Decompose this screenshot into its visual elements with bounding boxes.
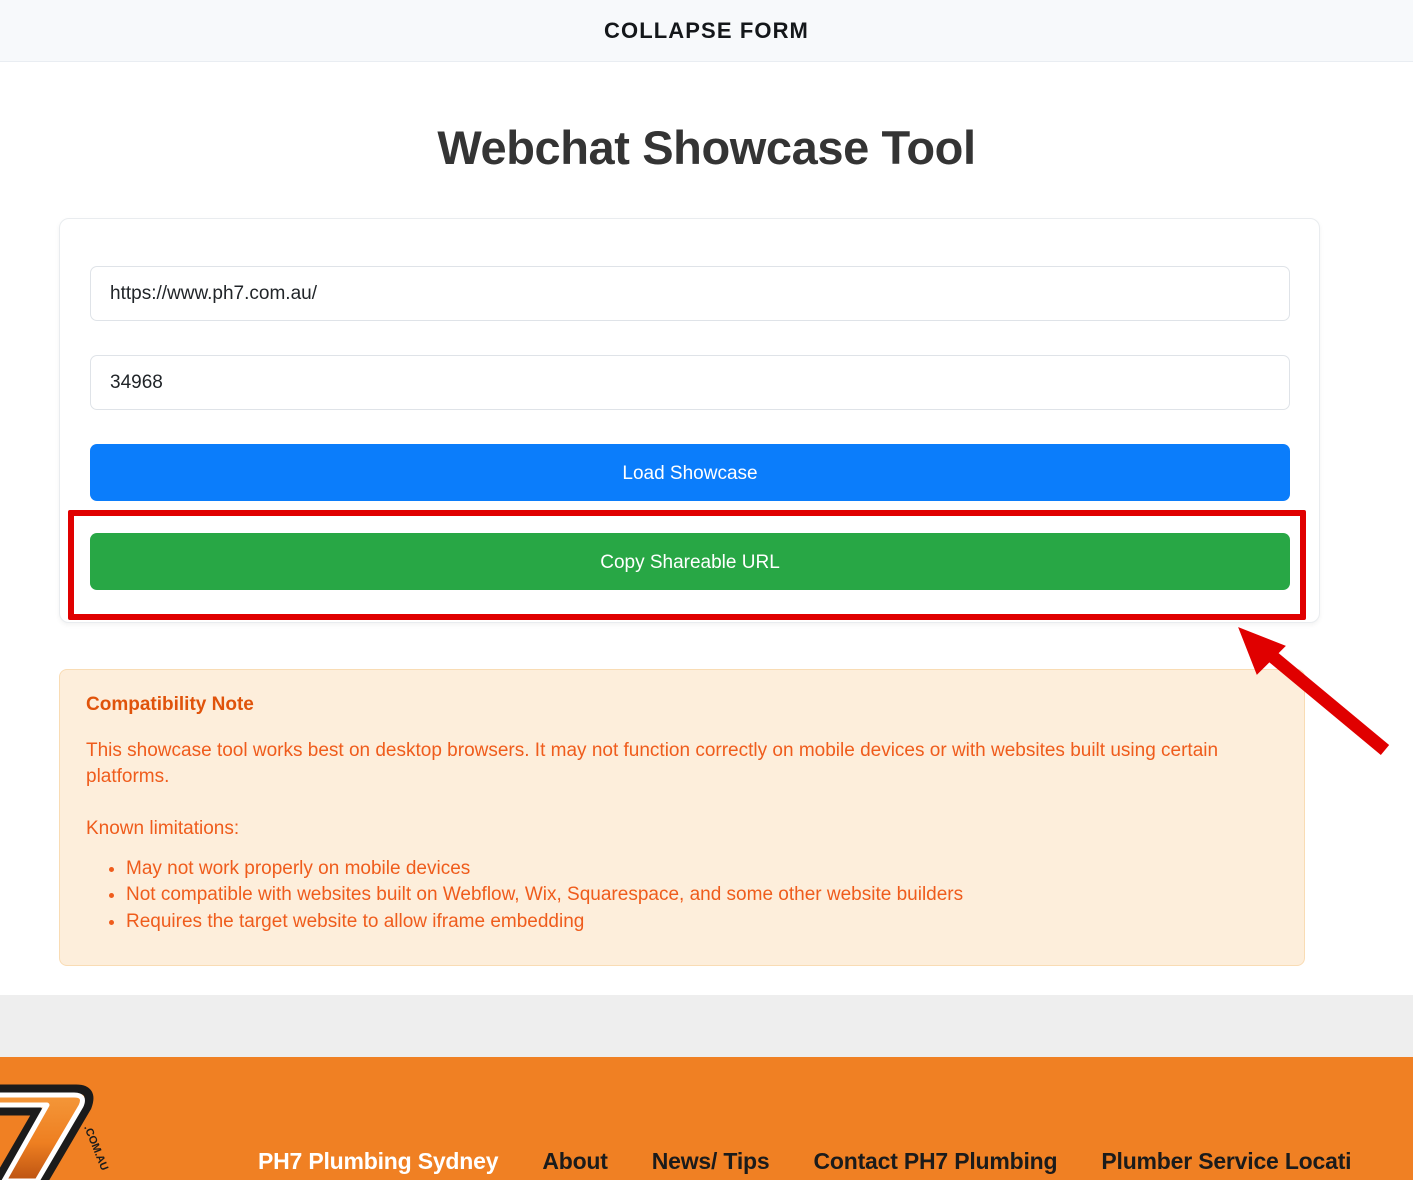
nav-link-ph7-plumbing-sydney[interactable]: PH7 Plumbing Sydney: [258, 1148, 498, 1175]
website-url-input[interactable]: [90, 266, 1290, 321]
nav-link-contact-ph7-plumbing[interactable]: Contact PH7 Plumbing: [813, 1148, 1057, 1175]
list-item: Not compatible with websites built on We…: [126, 883, 1278, 908]
collapse-form-label: COLLAPSE FORM: [604, 18, 809, 44]
load-showcase-button[interactable]: Load Showcase: [90, 444, 1290, 501]
showcase-form-card: Load Showcase Copy Shareable URL: [59, 218, 1320, 623]
compatibility-note-heading: Compatibility Note: [86, 694, 1278, 716]
known-limitations-list: May not work properly on mobile devices …: [86, 857, 1278, 935]
known-limitations-label: Known limitations:: [86, 816, 1278, 842]
site-nav: PH7 Plumbing Sydney About News/ Tips Con…: [258, 1148, 1351, 1175]
nav-link-about[interactable]: About: [542, 1148, 607, 1175]
nav-link-news-tips[interactable]: News/ Tips: [652, 1148, 770, 1175]
compatibility-note: Compatibility Note This showcase tool wo…: [59, 669, 1305, 966]
compatibility-note-body: This showcase tool works best on desktop…: [86, 738, 1278, 790]
site-footer-bar: .COM.AU PH7 Plumbing Sydney About News/ …: [0, 1057, 1413, 1180]
page-separator-band: [0, 995, 1413, 1057]
showcase-id-input[interactable]: [90, 355, 1290, 410]
page-title: Webchat Showcase Tool: [0, 62, 1413, 175]
copy-shareable-url-button[interactable]: Copy Shareable URL: [90, 533, 1290, 590]
list-item: Requires the target website to allow ifr…: [126, 910, 1278, 935]
collapse-form-bar[interactable]: COLLAPSE FORM: [0, 0, 1413, 62]
nav-link-plumber-service-locations[interactable]: Plumber Service Locati: [1101, 1148, 1351, 1175]
list-item: May not work properly on mobile devices: [126, 857, 1278, 882]
logo-domain-text: .COM.AU: [81, 1124, 110, 1173]
ph7-logo-icon[interactable]: .COM.AU: [0, 1075, 114, 1180]
